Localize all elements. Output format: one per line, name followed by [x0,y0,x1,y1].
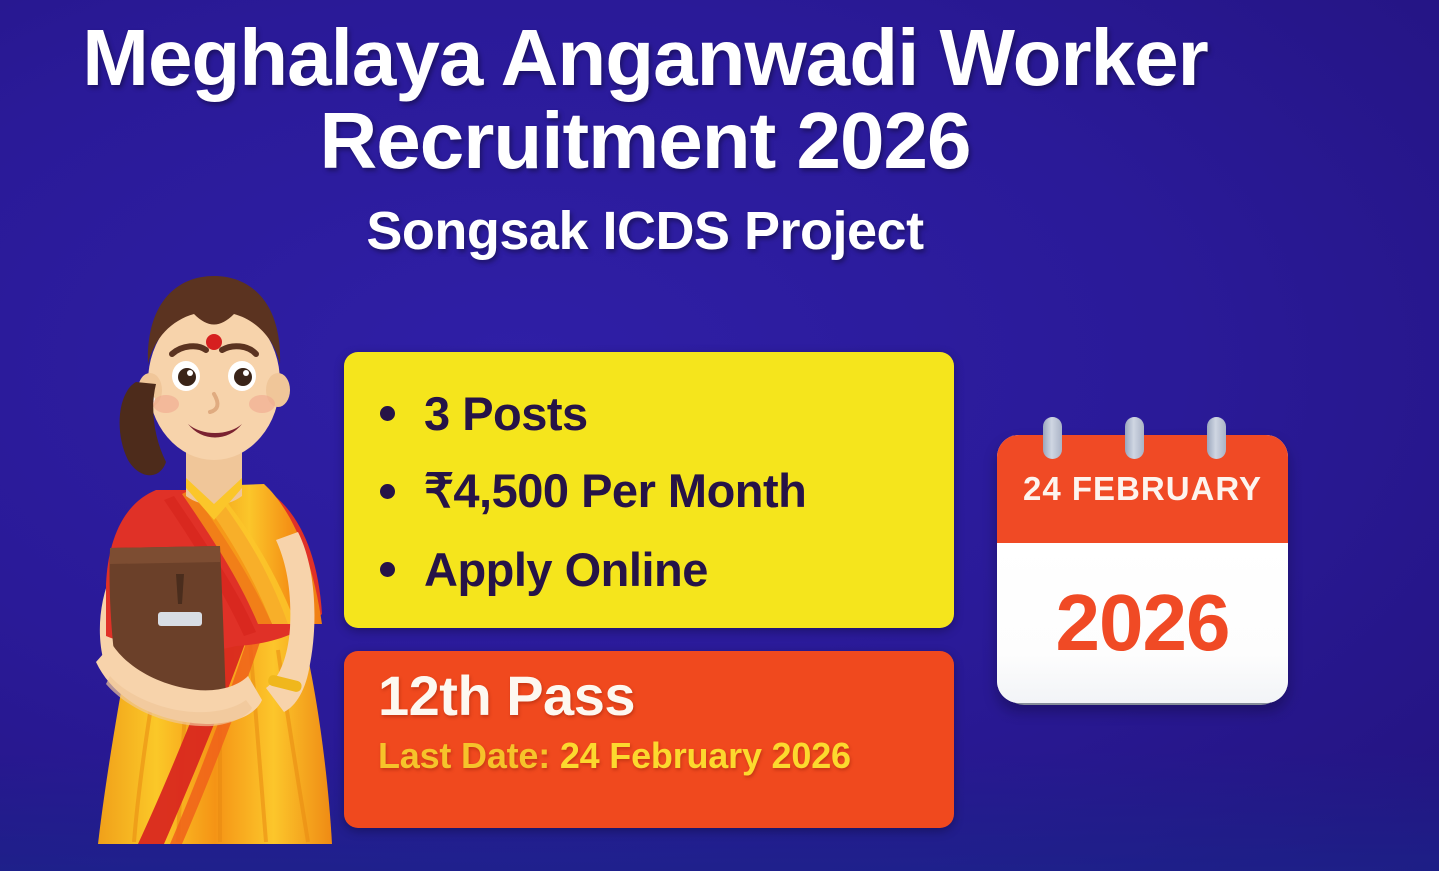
calendar-icon: 24 FEBRUARY 2026 [997,417,1288,721]
bullet-dot-icon [380,484,395,499]
highlights-box: 3 Posts ₹4,500 Per Month Apply Online [344,352,954,628]
highlights-list: 3 Posts ₹4,500 Per Month Apply Online [380,374,954,608]
page-subtitle: Songsak ICDS Project [0,200,1290,262]
title-line-1: Meghalaya Anganwadi Worker [82,13,1207,102]
title-line-2: Recruitment 2026 [0,99,1290,182]
calendar-ring-icon [1207,417,1226,459]
qualification-text: 12th Pass [378,665,954,727]
list-item: 3 Posts [380,374,954,452]
bullet-dot-icon [380,562,395,577]
calendar-ring-icon [1125,417,1144,459]
highlight-label: Apply Online [424,542,708,597]
poster-canvas: Meghalaya Anganwadi Worker Recruitment 2… [0,0,1439,871]
calendar-ring-icon [1043,417,1062,459]
bullet-dot-icon [380,406,395,421]
last-date-row: Last Date: 24 February 2026 [378,735,954,777]
list-item: ₹4,500 Per Month [380,452,954,530]
highlight-label: ₹4,500 Per Month [424,463,806,519]
poster-headings: Meghalaya Anganwadi Worker Recruitment 2… [0,16,1290,262]
calendar-face: 2026 [997,543,1288,703]
anganwadi-worker-illustration [60,232,370,871]
calendar-body: 24 FEBRUARY 2026 [997,435,1288,703]
last-date-value: 24 February 2026 [560,735,851,776]
list-item: Apply Online [380,530,954,608]
calendar-year: 2026 [1056,583,1230,663]
highlight-label: 3 Posts [424,386,588,441]
last-date-label: Last Date: [378,735,550,776]
calendar-month-day: 24 FEBRUARY [1023,470,1262,508]
calendar-rings [997,417,1288,457]
page-title: Meghalaya Anganwadi Worker Recruitment 2… [0,16,1290,182]
eligibility-box: 12th Pass Last Date: 24 February 2026 [344,651,954,828]
